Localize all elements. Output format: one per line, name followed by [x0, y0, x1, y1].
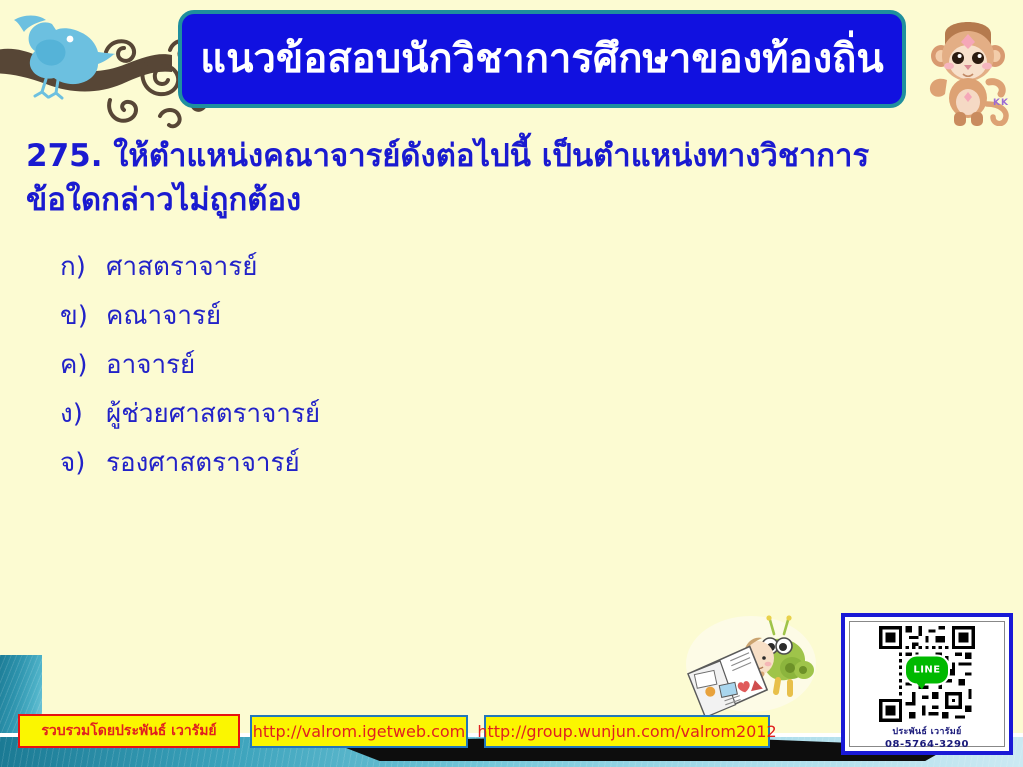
group-url-label: http://group.wunjun.com/valrom2012: [477, 722, 776, 741]
qr-phone-number: 08-5764-3290: [885, 739, 969, 750]
choice-marker: ข): [60, 303, 106, 329]
group-url-box[interactable]: http://group.wunjun.com/valrom2012: [484, 715, 770, 748]
choice-label: อาจารย์: [106, 352, 660, 378]
question-text: 275. ให้ตำแหน่งคณาจารย์ดังต่อไปนี้ เป็นต…: [26, 134, 991, 222]
choice-marker: ก): [60, 254, 106, 280]
line-qr-panel[interactable]: LINE ประพันธ์ เวารัมย์ 08-5764-3290: [841, 613, 1013, 755]
question-line-2: ข้อใดกล่าวไม่ถูกต้อง: [26, 178, 991, 222]
qr-code-icon: LINE: [871, 626, 983, 722]
choice-list: ก) ศาสตราจารย์ ข) คณาจารย์ ค) อาจารย์ ง)…: [60, 254, 660, 499]
choice-option-e[interactable]: จ) รองศาสตราจารย์: [60, 450, 660, 476]
choice-marker: ค): [60, 352, 106, 378]
choice-label: คณาจารย์: [106, 303, 660, 329]
choice-option-c[interactable]: ค) อาจารย์: [60, 352, 660, 378]
line-logo-icon: LINE: [904, 655, 950, 686]
choice-option-b[interactable]: ข) คณาจารย์: [60, 303, 660, 329]
site-url-label: http://valrom.igetweb.com: [253, 722, 465, 741]
choice-marker: ง): [60, 401, 106, 427]
page-title: แนวข้อสอบนักวิชาการศึกษาของท้องถิ่น: [190, 37, 893, 81]
slide-title-banner: แนวข้อสอบนักวิชาการศึกษาของท้องถิ่น: [178, 10, 906, 108]
qr-inner: LINE ประพันธ์ เวารัมย์ 08-5764-3290: [849, 621, 1005, 747]
slide-canvas: แนวข้อสอบนักวิชาการศึกษาของท้องถิ่น KK 2…: [0, 0, 1023, 767]
choice-label: รองศาสตราจารย์: [106, 450, 660, 476]
monkey-watermark-label: KK: [993, 98, 1009, 108]
choice-label: ผู้ช่วยศาสตราจารย์: [106, 401, 660, 427]
choice-option-a[interactable]: ก) ศาสตราจารย์: [60, 254, 660, 280]
choice-option-d[interactable]: ง) ผู้ช่วยศาสตราจารย์: [60, 401, 660, 427]
caterpillar-reading-newspaper-icon: [684, 612, 818, 716]
credit-box: รวบรวมโดยประพันธ์ เวารัมย์: [18, 714, 240, 748]
site-url-box[interactable]: http://valrom.igetweb.com: [250, 715, 468, 748]
question-line-1: 275. ให้ตำแหน่งคณาจารย์ดังต่อไปนี้ เป็นต…: [26, 134, 991, 178]
choice-marker: จ): [60, 450, 106, 476]
choice-label: ศาสตราจารย์: [106, 254, 660, 280]
credit-label: รวบรวมโดยประพันธ์ เวารัมย์: [41, 720, 216, 742]
qr-owner-name: ประพันธ์ เวารัมย์: [892, 724, 961, 738]
